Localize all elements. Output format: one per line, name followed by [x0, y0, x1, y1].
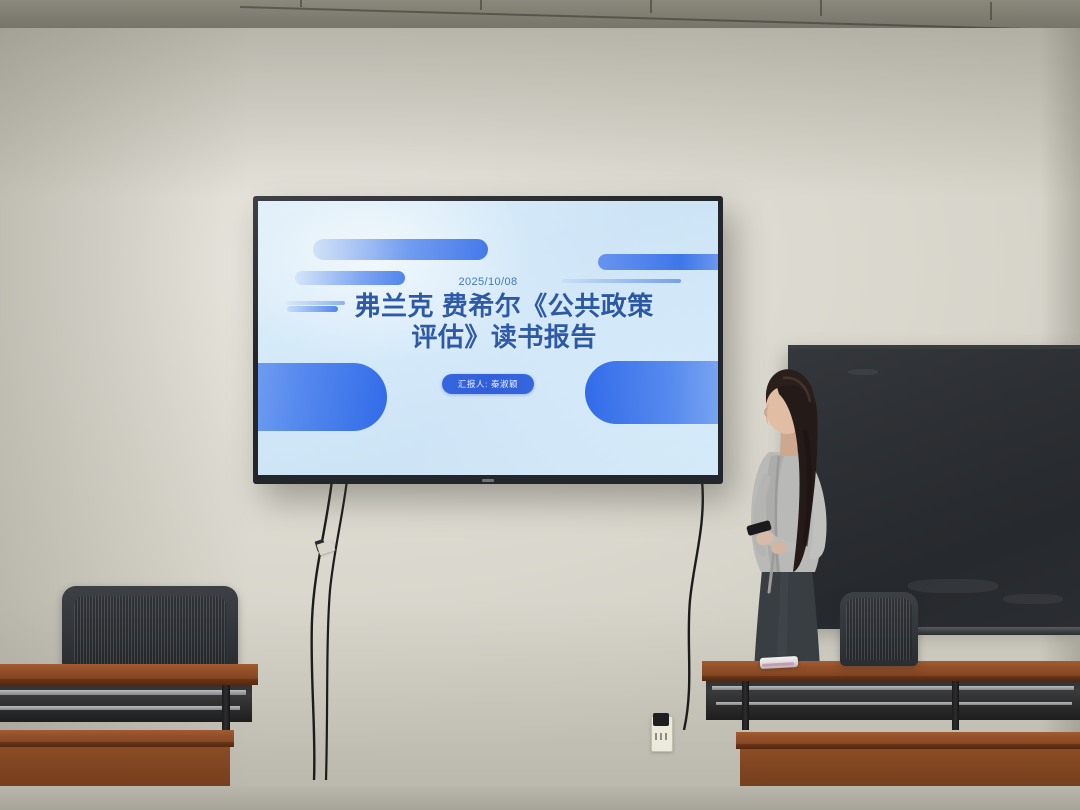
tv-brand-logo	[482, 479, 494, 482]
slide-title-line-1: 弗兰克 费希尔《公共政策	[309, 291, 700, 321]
desk-edge	[702, 676, 1080, 681]
slide-decoration-pill-top-right	[598, 254, 718, 269]
desk-surface	[0, 664, 258, 680]
desk-rail	[0, 706, 240, 710]
classroom-scene: 2025/10/08 弗兰克 费希尔《公共政策 评估》读书报告 汇报人: 秦淑颖	[0, 0, 1080, 810]
desk-rail	[0, 690, 246, 695]
chalk-smudge	[1003, 594, 1063, 604]
wall-mounted-television[interactable]: 2025/10/08 弗兰克 费希尔《公共政策 评估》读书报告 汇报人: 秦淑颖	[253, 196, 723, 484]
slide-decoration-pill-top-left-large	[313, 239, 488, 260]
slide-title-line-2: 评估》读书报告	[309, 322, 700, 352]
ceiling-tick	[480, 0, 482, 10]
chalk-smudge	[908, 579, 998, 593]
wall-outlet-slots	[655, 733, 667, 740]
desk-edge	[0, 742, 234, 747]
floor	[0, 786, 1080, 810]
ceiling-tick	[650, 0, 652, 13]
ceiling-tick	[990, 2, 992, 20]
slide-presenter-badge: 汇报人: 秦淑颖	[442, 374, 535, 394]
blackboard-chalk-tray	[910, 627, 1080, 635]
desk-rail	[712, 686, 1074, 690]
desk-rail	[716, 702, 1072, 705]
desk-edge	[0, 679, 258, 685]
slide-title: 弗兰克 费希尔《公共政策 评估》读书报告	[309, 291, 700, 351]
desk-edge	[736, 744, 1080, 749]
wall-outlet-plug	[653, 713, 669, 726]
slide-presenter-badge-container: 汇报人: 秦淑颖	[258, 374, 718, 394]
student-chair-mesh	[74, 596, 226, 664]
student-chair-mesh	[846, 598, 912, 660]
slide-date: 2025/10/08	[258, 276, 718, 288]
presentation-slide: 2025/10/08 弗兰克 费希尔《公共政策 评估》读书报告 汇报人: 秦淑颖	[258, 201, 718, 475]
ceiling-tick	[820, 0, 822, 16]
power-cable	[300, 480, 360, 780]
desk-leg	[222, 676, 230, 738]
ceiling-tick	[300, 0, 302, 7]
